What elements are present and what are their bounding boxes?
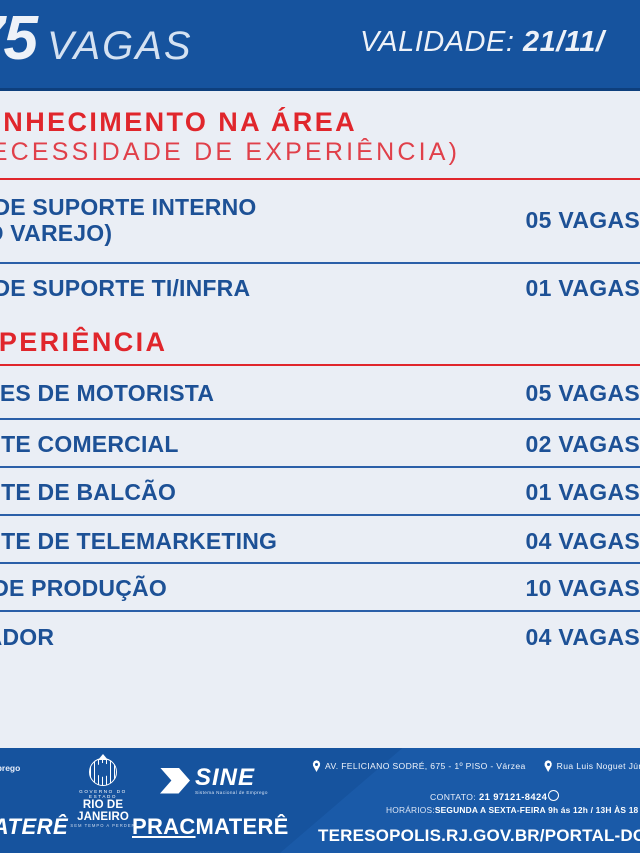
section-2-divider bbox=[0, 364, 640, 366]
empregatere-logo: EGATERÊ bbox=[0, 814, 68, 840]
row-divider bbox=[0, 562, 640, 564]
hours-value: SEGUNDA A SEXTA-FEIRA 9h ás 12h / 13H ÀS… bbox=[435, 805, 639, 815]
pracimatere-part1: PRAC bbox=[132, 814, 196, 839]
job-vacancy-count: 04 VAGAS bbox=[502, 624, 640, 651]
location-pin-icon bbox=[312, 760, 321, 772]
section-header-with-experience: EXPERIÊNCIA bbox=[0, 328, 618, 358]
job-title: ANTES DE MOTORISTA bbox=[0, 381, 214, 407]
job-title-line1: DENTE COMERCIAL bbox=[0, 431, 179, 457]
job-row: DENTE COMERCIAL 02 VAGAS bbox=[0, 431, 640, 458]
job-title: DENTE DE TELEMARKETING bbox=[0, 529, 277, 555]
job-vacancy-count: 05 VAGAS bbox=[502, 207, 640, 234]
government-state: RIO DE JANEIRO bbox=[68, 799, 138, 823]
job-title-line1: CO DE SUPORTE INTERNO bbox=[0, 194, 257, 220]
validity-label: VALIDADE: bbox=[360, 26, 523, 58]
poster-footer: lho, Emprego nomia ária GOVERNO DO ESTAD… bbox=[0, 748, 640, 853]
validity-date: 21/11/ bbox=[523, 26, 604, 58]
section-1-title: CONHECIMENTO NA ÁREA bbox=[0, 108, 618, 138]
hours-line: HORÁRIOS:SEGUNDA A SEXTA-FEIRA 9h ás 12h… bbox=[386, 805, 638, 815]
hours-label: HORÁRIOS: bbox=[386, 805, 435, 815]
government-logo: GOVERNO DO ESTADO RIO DE JANEIRO SEM TEM… bbox=[68, 758, 138, 828]
row-divider bbox=[0, 610, 640, 612]
address-text: AV. FELICIANO SODRÉ, 675 - 1º PISO - Vár… bbox=[325, 761, 526, 771]
job-title: CO DE SUPORTE INTERNO ÇÃO VAREJO) bbox=[0, 195, 257, 247]
job-row: AR DE PRODUÇÃO 10 VAGAS bbox=[0, 575, 640, 602]
job-vacancy-count: 05 VAGAS bbox=[502, 380, 640, 407]
vacancy-poster: 75 VAGAS VALIDADE: 21/11/ CONHECIMENTO N… bbox=[0, 0, 640, 853]
row-divider bbox=[0, 466, 640, 468]
job-title: DENTE DE BALCÃO bbox=[0, 480, 176, 506]
pracimatere-part2: MATERÊ bbox=[196, 814, 289, 839]
sine-name: SINE bbox=[195, 766, 268, 790]
job-title: CO DE SUPORTE TI/INFRA bbox=[0, 276, 250, 302]
job-row: CO DE SUPORTE INTERNO ÇÃO VAREJO) 05 VAG… bbox=[0, 195, 640, 247]
job-vacancy-count: 01 VAGAS bbox=[502, 479, 640, 506]
job-vacancy-count: 04 VAGAS bbox=[502, 528, 640, 555]
job-title-line2: ÇÃO VAREJO) bbox=[0, 221, 257, 247]
address-item: AV. FELICIANO SODRÉ, 675 - 1º PISO - Vár… bbox=[312, 760, 526, 772]
job-row: ANTES DE MOTORISTA 05 VAGAS bbox=[0, 380, 640, 407]
poster-header: 75 VAGAS VALIDADE: 21/11/ bbox=[0, 0, 640, 91]
section-1-subtitle: (NECESSIDADE DE EXPERIÊNCIA) bbox=[0, 138, 618, 167]
job-title-line1: ANTES DE MOTORISTA bbox=[0, 380, 214, 406]
validity-block: VALIDADE: 21/11/ bbox=[360, 26, 604, 59]
job-vacancy-count: 10 VAGAS bbox=[502, 575, 640, 602]
coat-of-arms-icon bbox=[89, 758, 117, 786]
secretaria-text: lho, Emprego nomia ária bbox=[0, 762, 20, 799]
job-title-line1: AR DE PRODUÇÃO bbox=[0, 575, 167, 601]
job-title: DENTE COMERCIAL bbox=[0, 432, 179, 458]
job-title-line1: DENTE DE BALCÃO bbox=[0, 479, 176, 505]
job-row: EGADOR 04 VAGAS bbox=[0, 624, 640, 651]
job-vacancy-count: 02 VAGAS bbox=[502, 431, 640, 458]
location-pin-icon bbox=[544, 760, 553, 772]
secretaria-line-2: nomia bbox=[0, 774, 20, 786]
job-row: DENTE DE BALCÃO 01 VAGAS bbox=[0, 479, 640, 506]
pracimatere-logo: PRACMATERÊ bbox=[132, 814, 289, 840]
address-row: AV. FELICIANO SODRÉ, 675 - 1º PISO - Vár… bbox=[312, 760, 640, 772]
vacancy-count-block: 75 VAGAS bbox=[0, 8, 193, 70]
job-title-line1: CO DE SUPORTE TI/INFRA bbox=[0, 275, 250, 301]
contact-line: CONTATO: 21 97121-8424 bbox=[430, 790, 559, 802]
government-label: GOVERNO DO ESTADO bbox=[68, 789, 138, 799]
address-text: Rua Luis Noguet Júni bbox=[557, 761, 640, 771]
row-divider bbox=[0, 262, 640, 264]
job-title-line1: EGADOR bbox=[0, 624, 54, 650]
section-header-no-experience: CONHECIMENTO NA ÁREA (NECESSIDADE DE EXP… bbox=[0, 108, 618, 166]
vacancy-count: 75 bbox=[0, 8, 37, 70]
sine-mark-icon bbox=[160, 768, 190, 794]
job-title: EGADOR bbox=[0, 625, 54, 651]
section-1-divider bbox=[0, 178, 640, 180]
job-vacancy-count: 01 VAGAS bbox=[502, 275, 640, 302]
row-divider bbox=[0, 418, 640, 420]
contact-label: CONTATO: bbox=[430, 792, 479, 802]
job-title-line1: DENTE DE TELEMARKETING bbox=[0, 528, 277, 554]
address-item: Rua Luis Noguet Júni bbox=[544, 760, 640, 772]
sine-logo: SINE Sistema Nacional de Emprego bbox=[160, 766, 268, 795]
website-url[interactable]: TERESOPOLIS.RJ.GOV.BR/PORTAL-DO-TRAB bbox=[318, 826, 640, 846]
section-2-title: EXPERIÊNCIA bbox=[0, 328, 618, 358]
row-divider bbox=[0, 514, 640, 516]
secretaria-line-1: lho, Emprego bbox=[0, 762, 20, 774]
sine-subtitle: Sistema Nacional de Emprego bbox=[195, 790, 268, 795]
vacancy-count-label: VAGAS bbox=[47, 26, 193, 66]
government-slogan: SEM TEMPO A PERDER bbox=[68, 823, 138, 828]
whatsapp-icon bbox=[548, 790, 559, 801]
contact-number: 21 97121-8424 bbox=[479, 791, 547, 802]
job-row: CO DE SUPORTE TI/INFRA 01 VAGAS bbox=[0, 275, 640, 302]
job-row: DENTE DE TELEMARKETING 04 VAGAS bbox=[0, 528, 640, 555]
secretaria-line-3: ária bbox=[0, 787, 20, 799]
job-title: AR DE PRODUÇÃO bbox=[0, 576, 167, 602]
